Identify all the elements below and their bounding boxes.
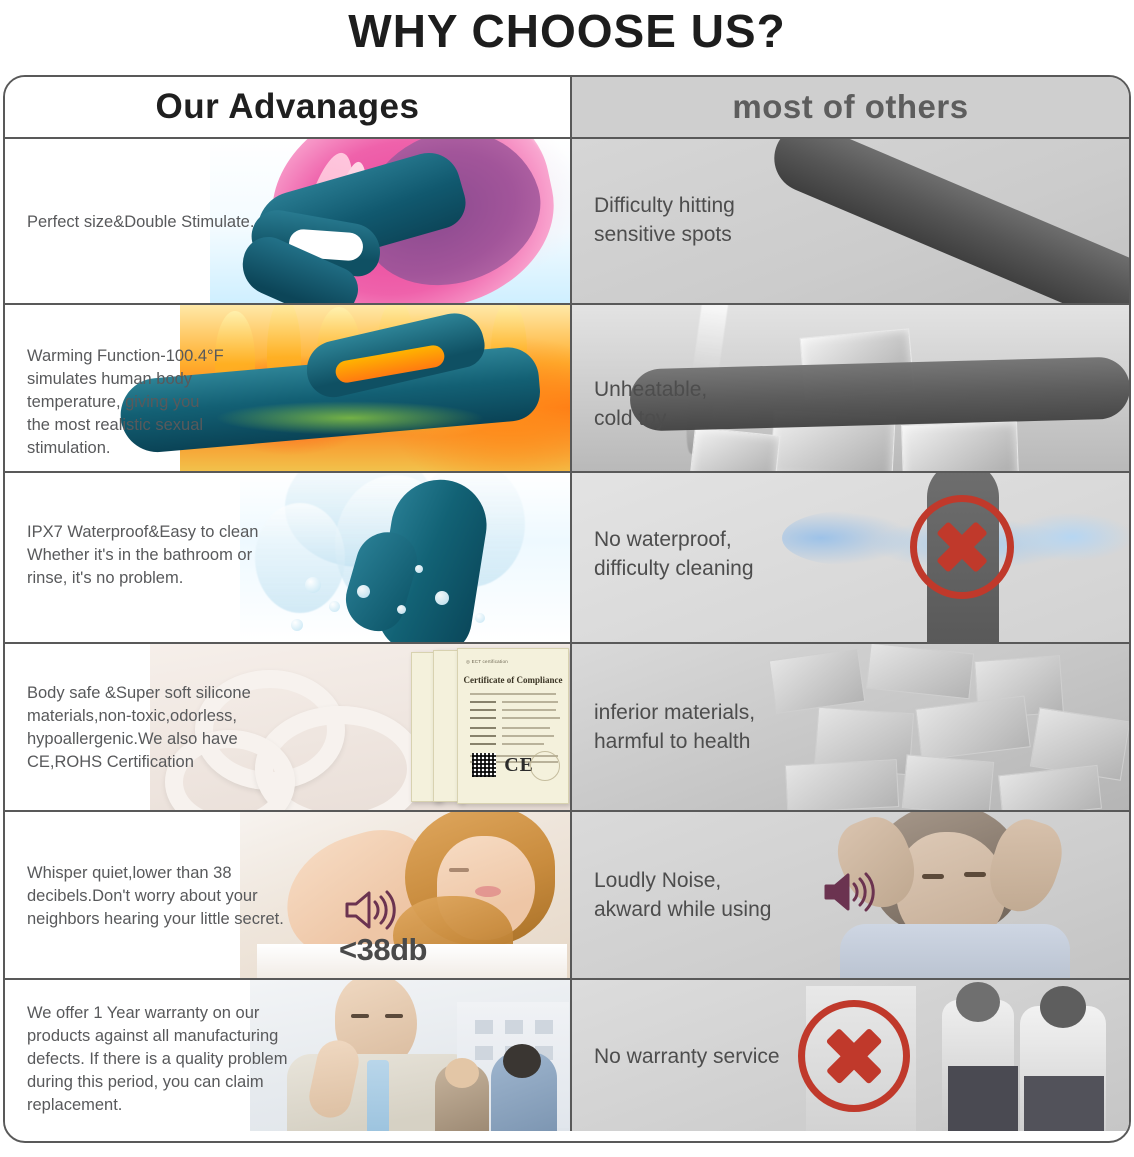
- row6-right-cell: No warranty service: [570, 980, 1129, 1131]
- page-title: WHY CHOOSE US?: [0, 2, 1134, 60]
- table-row: ◎ ECT certification Certificate of Compl…: [5, 642, 1129, 810]
- table-row: Perfect size&Double Stimulate. Difficult…: [5, 137, 1129, 303]
- row4-left-caption: Body safe &Super soft silicone materials…: [27, 682, 327, 774]
- row1-right-caption: Difficulty hitting sensitive spots: [594, 191, 864, 249]
- row3-right-cell: No waterproof, difficulty cleaning: [570, 473, 1129, 642]
- why-choose-us-comparison-graphic: WHY CHOOSE US? Our Advanages most of oth…: [0, 0, 1134, 1157]
- row2-left-cell: Warming Function-100.4°F simulates human…: [5, 305, 570, 471]
- row5-left-caption: Whisper quiet,lower than 38 decibels.Don…: [27, 862, 357, 931]
- row2-right-caption: Unheatable, cold toy: [594, 375, 834, 433]
- table-row: We offer 1 Year warranty on our products…: [5, 978, 1129, 1131]
- table-row: IPX7 Waterproof&Easy to clean Whether it…: [5, 471, 1129, 642]
- row6-left-caption: We offer 1 Year warranty on our products…: [27, 1002, 337, 1117]
- certificate-front: ◎ ECT certification Certificate of Compl…: [457, 648, 569, 804]
- row5-left-cell: <38db Whisper quiet,lower than 38 decibe…: [5, 812, 570, 978]
- row1-left-caption: Perfect size&Double Stimulate.: [27, 211, 327, 234]
- red-x-icon: [910, 495, 1014, 599]
- row4-right-cell: inferior materials, harmful to health: [570, 644, 1129, 810]
- row1-right-cell: Difficulty hitting sensitive spots: [570, 139, 1129, 303]
- row3-left-caption: IPX7 Waterproof&Easy to clean Whether it…: [27, 521, 327, 590]
- red-x-icon: [798, 1000, 910, 1112]
- row2-right-cell: Unheatable, cold toy: [570, 305, 1129, 471]
- speaker-icon: [822, 870, 878, 914]
- header-label-right: most of others: [732, 88, 968, 126]
- row3-right-caption: No waterproof, difficulty cleaning: [594, 525, 884, 583]
- row6-left-cell: We offer 1 Year warranty on our products…: [5, 980, 570, 1131]
- row5-right-cell: Loudly Noise, akward while using: [570, 812, 1129, 978]
- row4-left-cell: ◎ ECT certification Certificate of Compl…: [5, 644, 570, 810]
- decibel-badge: <38db: [339, 932, 427, 968]
- table-header-row: Our Advanages most of others: [5, 77, 1129, 137]
- table-row: Warming Function-100.4°F simulates human…: [5, 303, 1129, 471]
- row2-left-caption: Warming Function-100.4°F simulates human…: [27, 345, 297, 460]
- row1-left-cell: Perfect size&Double Stimulate.: [5, 139, 570, 303]
- speaker-icon: [343, 888, 399, 932]
- certificate-issuer-line: ◎ ECT certification: [466, 659, 508, 665]
- row4-right-caption: inferior materials, harmful to health: [594, 698, 884, 756]
- certificate-seal-icon: [530, 751, 560, 781]
- row3-left-cell: IPX7 Waterproof&Easy to clean Whether it…: [5, 473, 570, 642]
- header-cell-our-advantages: Our Advanages: [5, 77, 570, 137]
- certificate-title: Certificate of Compliance: [458, 675, 568, 685]
- row5-right-caption: Loudly Noise, akward while using: [594, 866, 824, 924]
- table-row: <38db Whisper quiet,lower than 38 decibe…: [5, 810, 1129, 978]
- certificate-qr-code: [472, 753, 496, 777]
- header-label-left: Our Advanages: [156, 87, 420, 127]
- comparison-table: Our Advanages most of others: [3, 75, 1131, 1143]
- header-cell-most-of-others: most of others: [570, 77, 1129, 137]
